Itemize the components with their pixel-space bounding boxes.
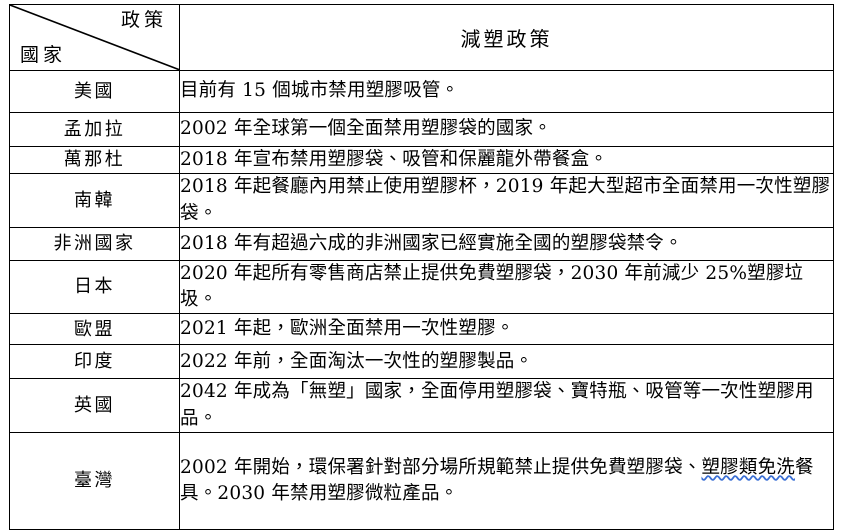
policy-cell-taiwan: 2002 年開始，環保署針對部分場所規範禁止提供免費塑膠袋、塑膠類免洗餐具。20… — [180, 432, 834, 529]
header-policy-column-title: 減塑政策 — [180, 5, 834, 71]
country-cell-south-korea: 南韓 — [10, 174, 180, 228]
policy-text: 2002 年開始，環保署針對部分場所規範禁止提供免費塑膠袋、塑膠類免洗餐具。20… — [180, 455, 833, 508]
table-row: 萬那杜 2018 年宣布禁用塑膠袋、吸管和保麗龍外帶餐盒。 — [10, 147, 834, 174]
country-cell-african-countries: 非洲國家 — [10, 227, 180, 260]
spellcheck-flagged-text[interactable]: 塑膠類免洗 — [701, 457, 795, 478]
policy-text: 目前有 15 個城市禁用塑膠吸管。 — [180, 78, 833, 104]
screenshot-canvas: 政策 國家 減塑政策 美國 目前有 15 個城市禁用塑膠吸管。 孟加拉 2002… — [0, 0, 841, 529]
table-row: 日本 2020 年起所有零售商店禁止提供免費塑膠袋，2030 年前減少 25%塑… — [10, 260, 834, 314]
policy-cell-japan: 2020 年起所有零售商店禁止提供免費塑膠袋，2030 年前減少 25%塑膠垃圾… — [180, 260, 834, 314]
country-cell-united-kingdom: 英國 — [10, 379, 180, 433]
policy-text-part1: 2002 年開始，環保署針對部分場所規範禁止提供免費塑膠袋、 — [180, 457, 701, 478]
header-corner-cell: 政策 國家 — [10, 5, 180, 71]
policy-cell-european-union: 2021 年起，歐洲全面禁用一次性塑膠。 — [180, 314, 834, 345]
table-header-row: 政策 國家 減塑政策 — [10, 5, 834, 71]
country-cell-usa: 美國 — [10, 71, 180, 113]
plastic-reduction-policy-table: 政策 國家 減塑政策 美國 目前有 15 個城市禁用塑膠吸管。 孟加拉 2002… — [9, 4, 834, 530]
table-row: 印度 2022 年前，全面淘汰一次性的塑膠製品。 — [10, 345, 834, 379]
policy-text: 2021 年起，歐洲全面禁用一次性塑膠。 — [180, 316, 833, 342]
header-country-axis-label: 國家 — [20, 43, 66, 69]
policy-text: 2002 年全球第一個全面禁用塑膠袋的國家。 — [180, 116, 833, 142]
policy-text: 2018 年宣布禁用塑膠袋、吸管和保麗龍外帶餐盒。 — [180, 147, 833, 173]
policy-text: 2020 年起所有零售商店禁止提供免費塑膠袋，2030 年前減少 25%塑膠垃圾… — [180, 261, 833, 314]
table-row: 歐盟 2021 年起，歐洲全面禁用一次性塑膠。 — [10, 314, 834, 345]
table-row: 英國 2042 年成為「無塑」國家，全面停用塑膠袋、寶特瓶、吸管等一次性塑膠用品… — [10, 379, 834, 433]
policy-cell-african-countries: 2018 年有超過六成的非洲國家已經實施全國的塑膠袋禁令。 — [180, 227, 834, 260]
policy-text: 2018 年有超過六成的非洲國家已經實施全國的塑膠袋禁令。 — [180, 231, 833, 257]
policy-cell-south-korea: 2018 年起餐廳內用禁止使用塑膠杯，2019 年起大型超市全面禁用一次性塑膠袋… — [180, 174, 834, 228]
table-row: 臺灣 2002 年開始，環保署針對部分場所規範禁止提供免費塑膠袋、塑膠類免洗餐具… — [10, 432, 834, 529]
policy-cell-vanuatu: 2018 年宣布禁用塑膠袋、吸管和保麗龍外帶餐盒。 — [180, 147, 834, 174]
country-cell-bangladesh: 孟加拉 — [10, 113, 180, 147]
policy-cell-united-kingdom: 2042 年成為「無塑」國家，全面停用塑膠袋、寶特瓶、吸管等一次性塑膠用品。 — [180, 379, 834, 433]
country-cell-taiwan: 臺灣 — [10, 432, 180, 529]
policy-cell-usa: 目前有 15 個城市禁用塑膠吸管。 — [180, 71, 834, 113]
policy-text: 2042 年成為「無塑」國家，全面停用塑膠袋、寶特瓶、吸管等一次性塑膠用品。 — [180, 379, 833, 432]
policy-text: 2018 年起餐廳內用禁止使用塑膠杯，2019 年起大型超市全面禁用一次性塑膠袋… — [180, 174, 833, 227]
country-cell-india: 印度 — [10, 345, 180, 379]
policy-text: 2022 年前，全面淘汰一次性的塑膠製品。 — [180, 349, 833, 375]
country-cell-japan: 日本 — [10, 260, 180, 314]
header-policy-axis-label: 政策 — [121, 8, 167, 34]
policy-cell-india: 2022 年前，全面淘汰一次性的塑膠製品。 — [180, 345, 834, 379]
country-cell-european-union: 歐盟 — [10, 314, 180, 345]
table-row: 孟加拉 2002 年全球第一個全面禁用塑膠袋的國家。 — [10, 113, 834, 147]
table-row: 南韓 2018 年起餐廳內用禁止使用塑膠杯，2019 年起大型超市全面禁用一次性… — [10, 174, 834, 228]
table-row: 非洲國家 2018 年有超過六成的非洲國家已經實施全國的塑膠袋禁令。 — [10, 227, 834, 260]
country-cell-vanuatu: 萬那杜 — [10, 147, 180, 174]
policy-cell-bangladesh: 2002 年全球第一個全面禁用塑膠袋的國家。 — [180, 113, 834, 147]
table-row: 美國 目前有 15 個城市禁用塑膠吸管。 — [10, 71, 834, 113]
